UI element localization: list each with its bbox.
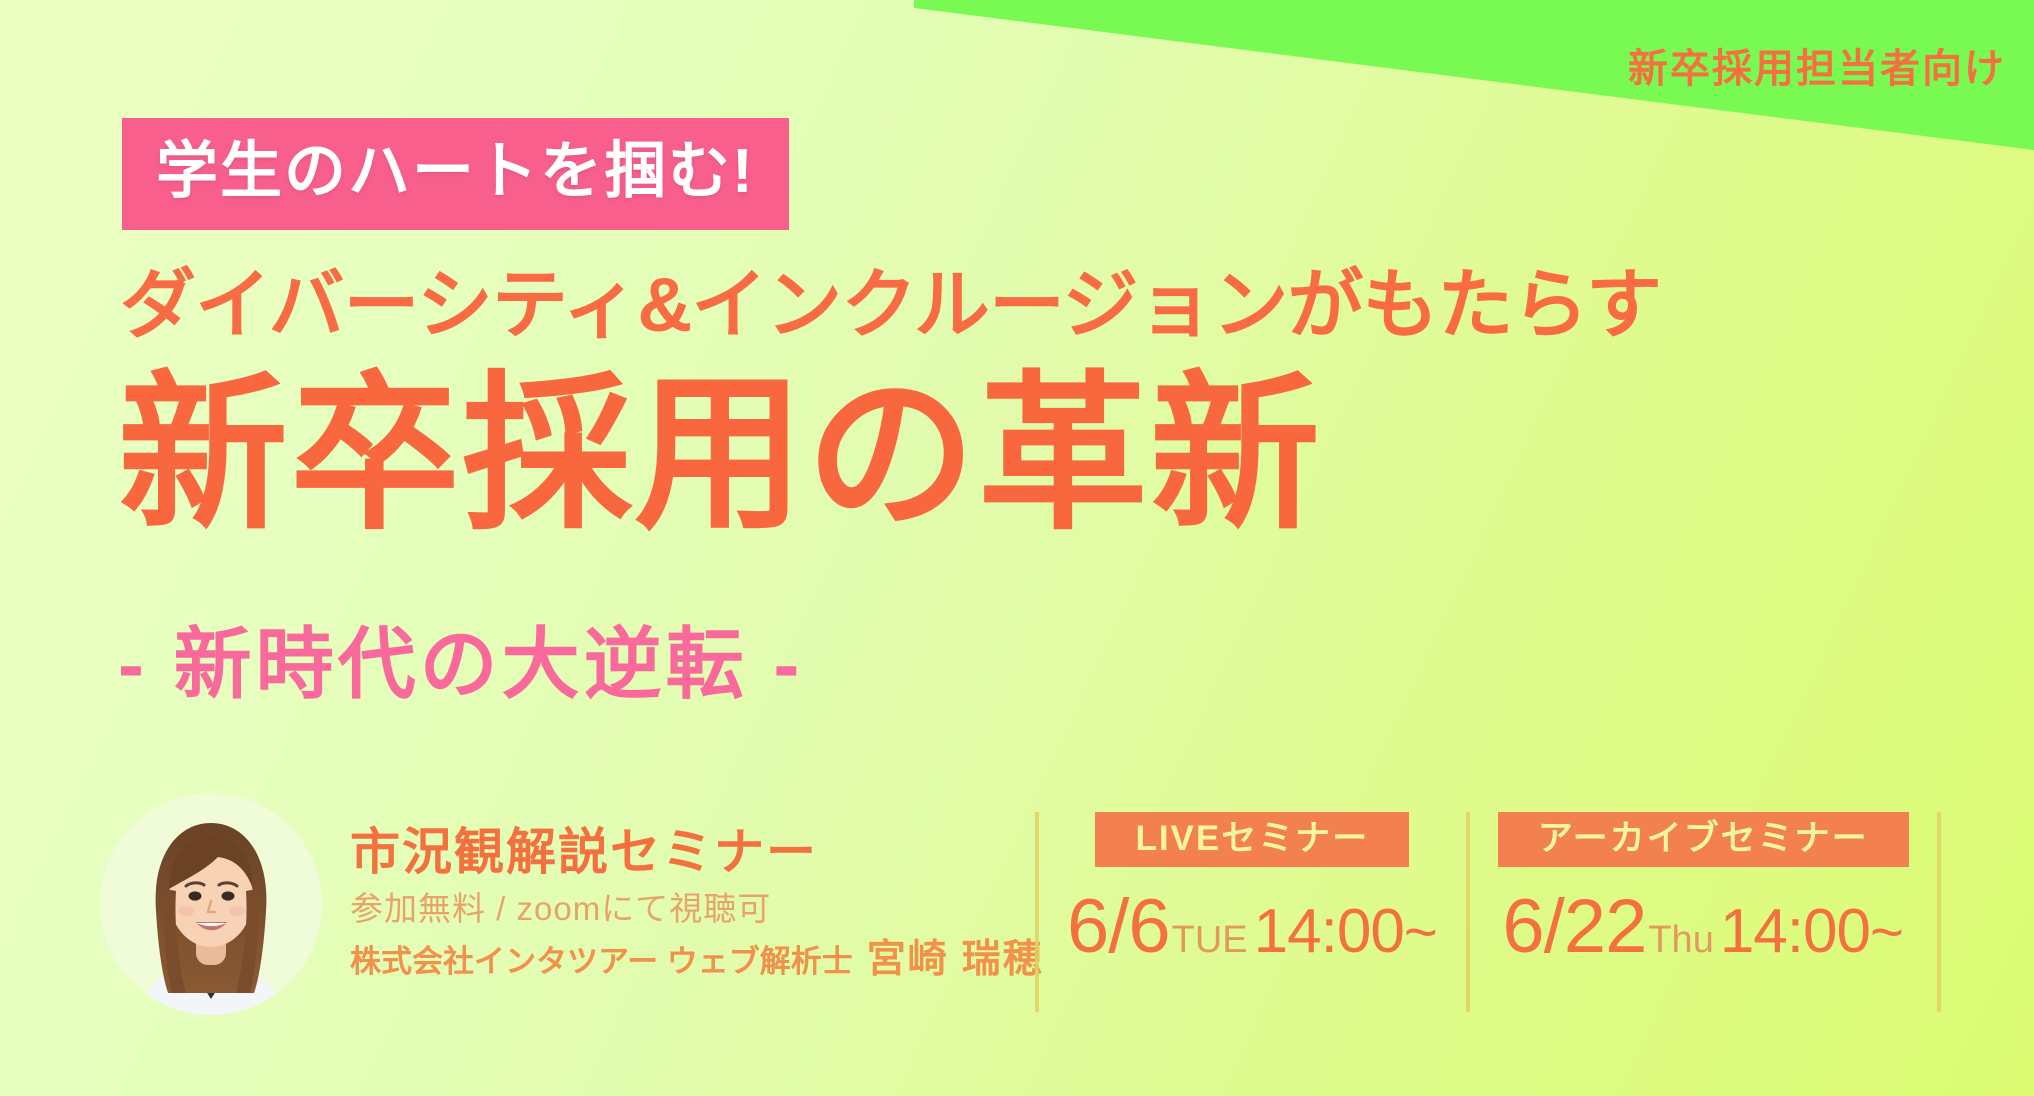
divider-right [1937, 812, 1941, 1012]
session-date-archive: 6/22 [1502, 889, 1646, 965]
catchphrase-text: 学生のハートを掴む! [156, 141, 755, 203]
seminar-poster: 新卒採用担当者向け 学生のハートを掴む! ダイバーシティ&インクルージョンがもた… [0, 0, 2034, 1096]
target-audience-eyebrow: 新卒採用担当者向け [1628, 36, 2006, 94]
divider-left [1035, 812, 1039, 1012]
speaker-avatar [100, 793, 322, 1015]
session-dates: LIVEセミナー 6/6 TUE 14:00 ~ アーカイブセミナー 6/22 … [1035, 812, 1941, 1012]
seminar-conditions: 参加無料 / zoomにて視聴可 [350, 891, 1044, 927]
session-datetime-live: 6/6 TUE 14:00 ~ [1067, 889, 1438, 965]
speaker-company-role: 株式会社インタツアー ウェブ解析士 [350, 945, 853, 979]
session-time-archive: 14:00 [1716, 901, 1870, 963]
session-datetime-archive: 6/22 Thu 14:00 ~ [1502, 889, 1903, 965]
catchphrase-badge: 学生のハートを掴む! [122, 118, 789, 230]
session-weekday-live: TUE [1170, 921, 1250, 959]
speaker-affiliation: 株式会社インタツアー ウェブ解析士 宮崎 瑞穂 [350, 939, 1044, 982]
session-tag-live: LIVEセミナー [1095, 812, 1409, 867]
session-tilde-live: ~ [1404, 904, 1438, 962]
session-tag-archive: アーカイブセミナー [1498, 812, 1909, 867]
session-tilde-archive: ~ [1870, 904, 1904, 962]
session-live: LIVEセミナー 6/6 TUE 14:00 ~ [1039, 812, 1466, 1012]
session-weekday-archive: Thu [1646, 921, 1715, 959]
headline-line-1: ダイバーシティ&インクルージョンがもたらす [120, 268, 1661, 344]
speaker-details: 市況観解説セミナー 参加無料 / zoomにて視聴可 株式会社インタツアー ウェ… [350, 826, 1044, 982]
speaker-name: 宮崎 瑞穂 [867, 939, 1044, 982]
divider-middle [1466, 812, 1470, 1012]
session-date-live: 6/6 [1067, 889, 1170, 965]
headline-subtitle: - 新時代の大逆転 - [118, 625, 803, 703]
headline-line-2: 新卒採用の革新 [118, 370, 1322, 540]
speaker-block: 市況観解説セミナー 参加無料 / zoomにて視聴可 株式会社インタツアー ウェ… [100, 793, 1044, 1015]
session-archive: アーカイブセミナー 6/22 Thu 14:00 ~ [1470, 812, 1937, 1012]
session-time-live: 14:00 [1250, 901, 1404, 963]
seminar-title: 市況観解説セミナー [350, 826, 1044, 879]
